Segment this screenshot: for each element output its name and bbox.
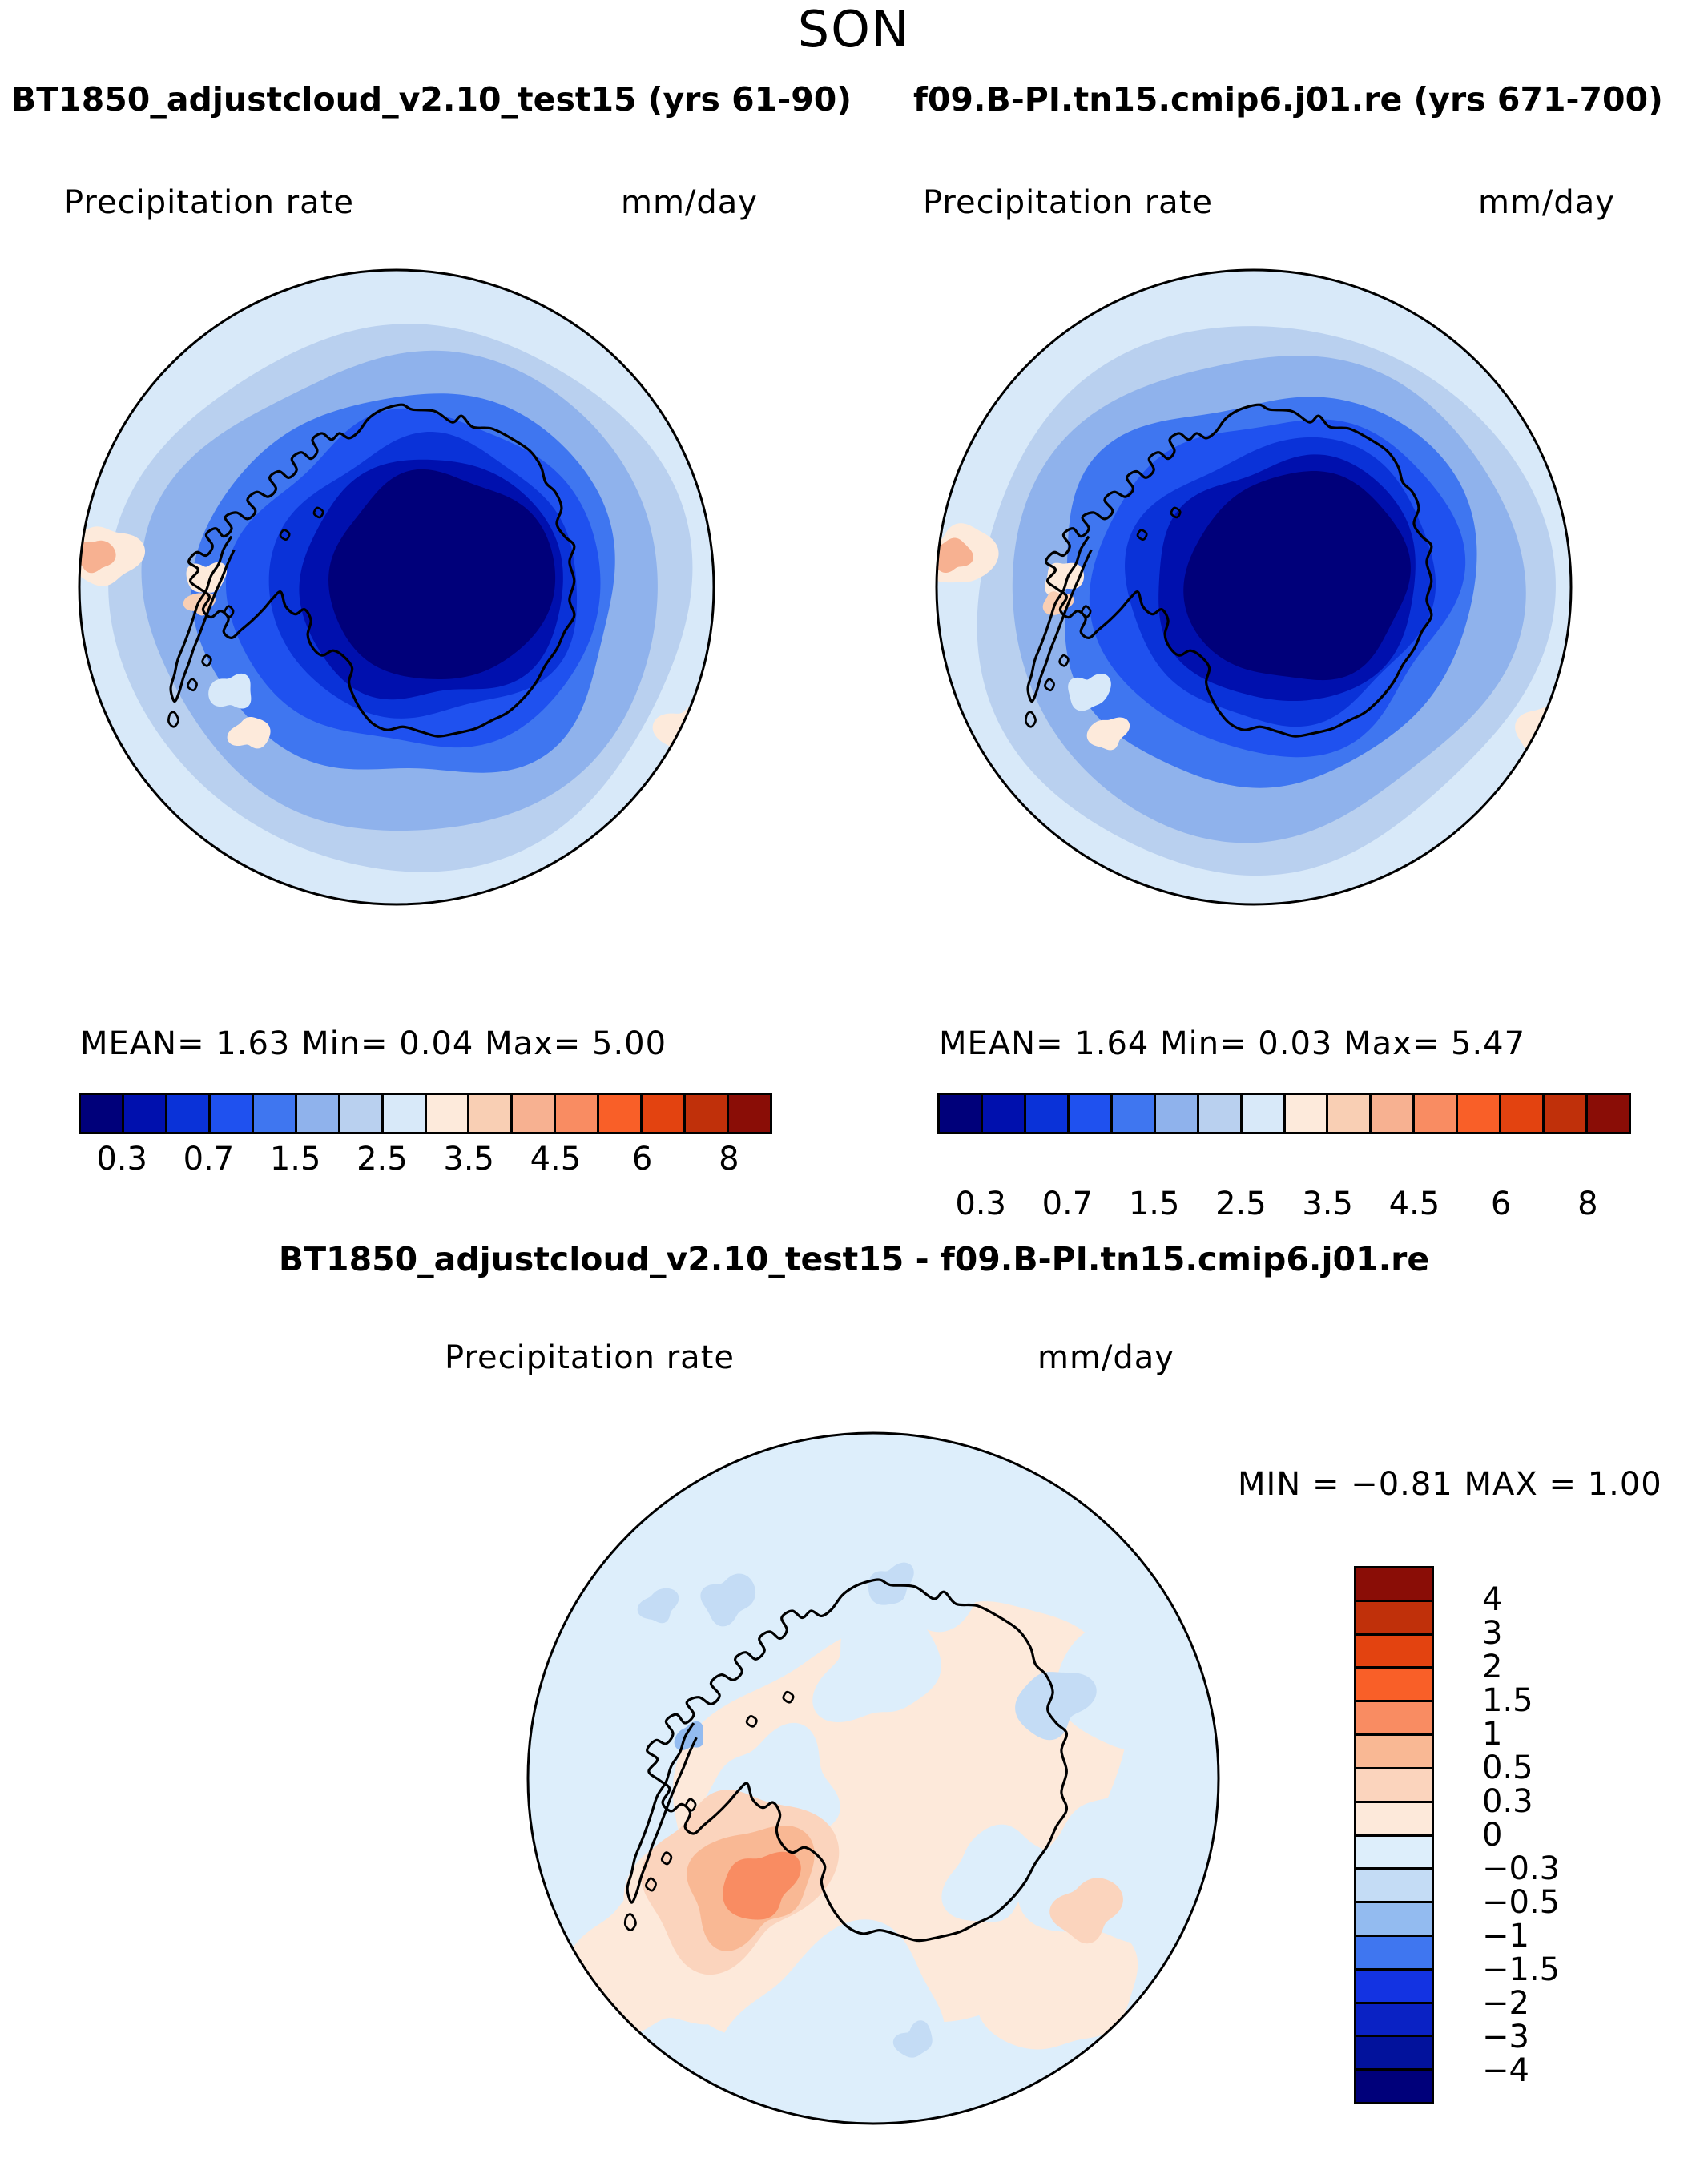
colorbar-tick-label: 0	[1482, 1817, 1502, 1854]
colorbar-tick-label: 2.5	[357, 1141, 408, 1178]
colorbar-cell	[686, 1095, 729, 1132]
field-label-right: Precipitation rate	[923, 184, 1213, 221]
colorbar-tick-label: −4	[1482, 2052, 1529, 2089]
colorbar-tick-label: 8	[1577, 1186, 1597, 1222]
colorbar-tick-label: 6	[1491, 1186, 1511, 1222]
case-title-left: BT1850_adjustcloud_v2.10_test15 (yrs 61-…	[11, 80, 852, 119]
colorbar-tick-label: 1	[1482, 1716, 1502, 1753]
colorbar-tick-label: 4.5	[1389, 1186, 1440, 1222]
colorbar-cell	[1328, 1095, 1372, 1132]
colorbar-cell	[469, 1095, 513, 1132]
season-title: SON	[0, 0, 1708, 58]
colorbar-tick-label: 3.5	[1302, 1186, 1353, 1222]
colorbar-cell	[1113, 1095, 1156, 1132]
colorbar-cell	[1156, 1095, 1199, 1132]
colorbar-cell	[1356, 1837, 1432, 1870]
colorbar-cell	[643, 1095, 686, 1132]
colorbar-cell	[1356, 1937, 1432, 1971]
colorbar-tick-label: −3	[1482, 2019, 1529, 2055]
colorbar-cell	[1199, 1095, 1243, 1132]
field-label-left: Precipitation rate	[64, 184, 354, 221]
colorbar-cell	[1588, 1095, 1629, 1132]
colorbar-cell	[1356, 2071, 1432, 2102]
colorbar-cell	[1356, 2004, 1432, 2038]
colorbar-cell	[940, 1095, 983, 1132]
colorbar-tick-label: 0.7	[183, 1141, 235, 1178]
colorbar-tick-label: 1.5	[1129, 1186, 1180, 1222]
colorbar-cell	[1356, 1602, 1432, 1636]
colorbar-tick-label: 4	[1482, 1581, 1502, 1618]
colorbar-tick-label: 0.5	[1482, 1749, 1533, 1786]
field-label-diff: Precipitation rate	[445, 1339, 735, 1376]
colorbar-cell	[1356, 1636, 1432, 1669]
colorbar-tick-label: −2	[1482, 1985, 1529, 2022]
colorbar-cell	[1458, 1095, 1501, 1132]
colorbar-ticks-left: 0.30.71.52.53.54.568	[79, 1141, 772, 1186]
colorbar-cell	[1286, 1095, 1329, 1132]
colorbar-tick-label: 8	[719, 1141, 739, 1178]
polar-map-diff[interactable]	[525, 1430, 1222, 2127]
colorbar-cell	[1372, 1095, 1415, 1132]
colorbar-cell	[1356, 2037, 1432, 2071]
colorbar-tick-label: 0.3	[96, 1141, 147, 1178]
colorbar-cell	[1243, 1095, 1286, 1132]
colorbar-tick-label: −1	[1482, 1918, 1529, 1955]
colorbar-cell	[1545, 1095, 1588, 1132]
colorbar-diff[interactable]	[1354, 1566, 1434, 2104]
colorbar-cell	[1356, 1568, 1432, 1602]
colorbar-tick-label: 0.7	[1042, 1186, 1094, 1222]
colorbar-tick-label: 3	[1482, 1615, 1502, 1652]
polar-map-right[interactable]	[933, 267, 1574, 908]
colorbar-cell	[1026, 1095, 1070, 1132]
colorbar-cell	[513, 1095, 556, 1132]
colorbar-cell	[1356, 1669, 1432, 1702]
colorbar-ticks-right: 0.30.71.52.53.54.568	[937, 1186, 1631, 1230]
colorbar-cell	[124, 1095, 167, 1132]
colorbar-tick-label: 1.5	[1482, 1682, 1533, 1719]
colorbar-tick-label: 3.5	[443, 1141, 494, 1178]
colorbar-cell	[1356, 1769, 1432, 1803]
colorbar-cell	[983, 1095, 1026, 1132]
colorbar-cell	[729, 1095, 770, 1132]
units-label-diff: mm/day	[1037, 1339, 1174, 1376]
contour-blob	[545, 1988, 604, 2047]
colorbar-cell	[1356, 1870, 1432, 1903]
colorbar-tick-label: −0.5	[1482, 1884, 1560, 1921]
colorbar-right[interactable]	[937, 1093, 1631, 1134]
colorbar-cell	[1415, 1095, 1458, 1132]
colorbar-cell	[1070, 1095, 1113, 1132]
colorbar-tick-label: 1.5	[270, 1141, 321, 1178]
colorbar-diff-wrap: 4321.510.50.30−0.3−0.5−1−1.5−2−3−4	[1354, 1566, 1575, 2104]
colorbar-diff-ticks: 4321.510.50.30−0.3−0.5−1−1.5−2−3−4	[1455, 1566, 1575, 2104]
colorbar-cell	[1501, 1095, 1545, 1132]
colorbar-cell	[1356, 1903, 1432, 1937]
colorbar-cell	[1356, 1803, 1432, 1837]
colorbar-tick-label: 6	[632, 1141, 652, 1178]
colorbar-left[interactable]	[79, 1093, 772, 1134]
colorbar-cell	[167, 1095, 211, 1132]
colorbar-tick-label: −0.3	[1482, 1850, 1560, 1887]
colorbar-tick-label: 2	[1482, 1649, 1502, 1685]
colorbar-cell	[556, 1095, 599, 1132]
units-label-right: mm/day	[1478, 184, 1615, 221]
stats-left: MEAN= 1.63 Min= 0.04 Max= 5.00	[80, 1025, 667, 1062]
diff-minmax: MIN = −0.81 MAX = 1.00	[1238, 1466, 1662, 1503]
units-label-left: mm/day	[621, 184, 758, 221]
stats-right: MEAN= 1.64 Min= 0.03 Max= 5.47	[939, 1025, 1525, 1062]
diff-case-title: BT1850_adjustcloud_v2.10_test15 - f09.B-…	[0, 1240, 1708, 1278]
colorbar-cell	[340, 1095, 384, 1132]
colorbar-cell	[297, 1095, 340, 1132]
colorbar-tick-label: −1.5	[1482, 1951, 1560, 1988]
case-title-right: f09.B-PI.tn15.cmip6.j01.re (yrs 671-700)	[913, 80, 1663, 119]
colorbar-cell	[384, 1095, 427, 1132]
colorbar-tick-label: 2.5	[1215, 1186, 1267, 1222]
colorbar-cell	[81, 1095, 124, 1132]
colorbar-cell	[211, 1095, 254, 1132]
colorbar-cell	[254, 1095, 297, 1132]
colorbar-tick-label: 4.5	[530, 1141, 582, 1178]
polar-map-left[interactable]	[76, 267, 717, 908]
colorbar-cell	[1356, 1702, 1432, 1736]
colorbar-tick-label: 0.3	[1482, 1783, 1533, 1820]
colorbar-cell	[1356, 1971, 1432, 2004]
colorbar-cell	[427, 1095, 470, 1132]
colorbar-cell	[1356, 1736, 1432, 1769]
colorbar-tick-label: 0.3	[955, 1186, 1006, 1222]
colorbar-cell	[599, 1095, 643, 1132]
